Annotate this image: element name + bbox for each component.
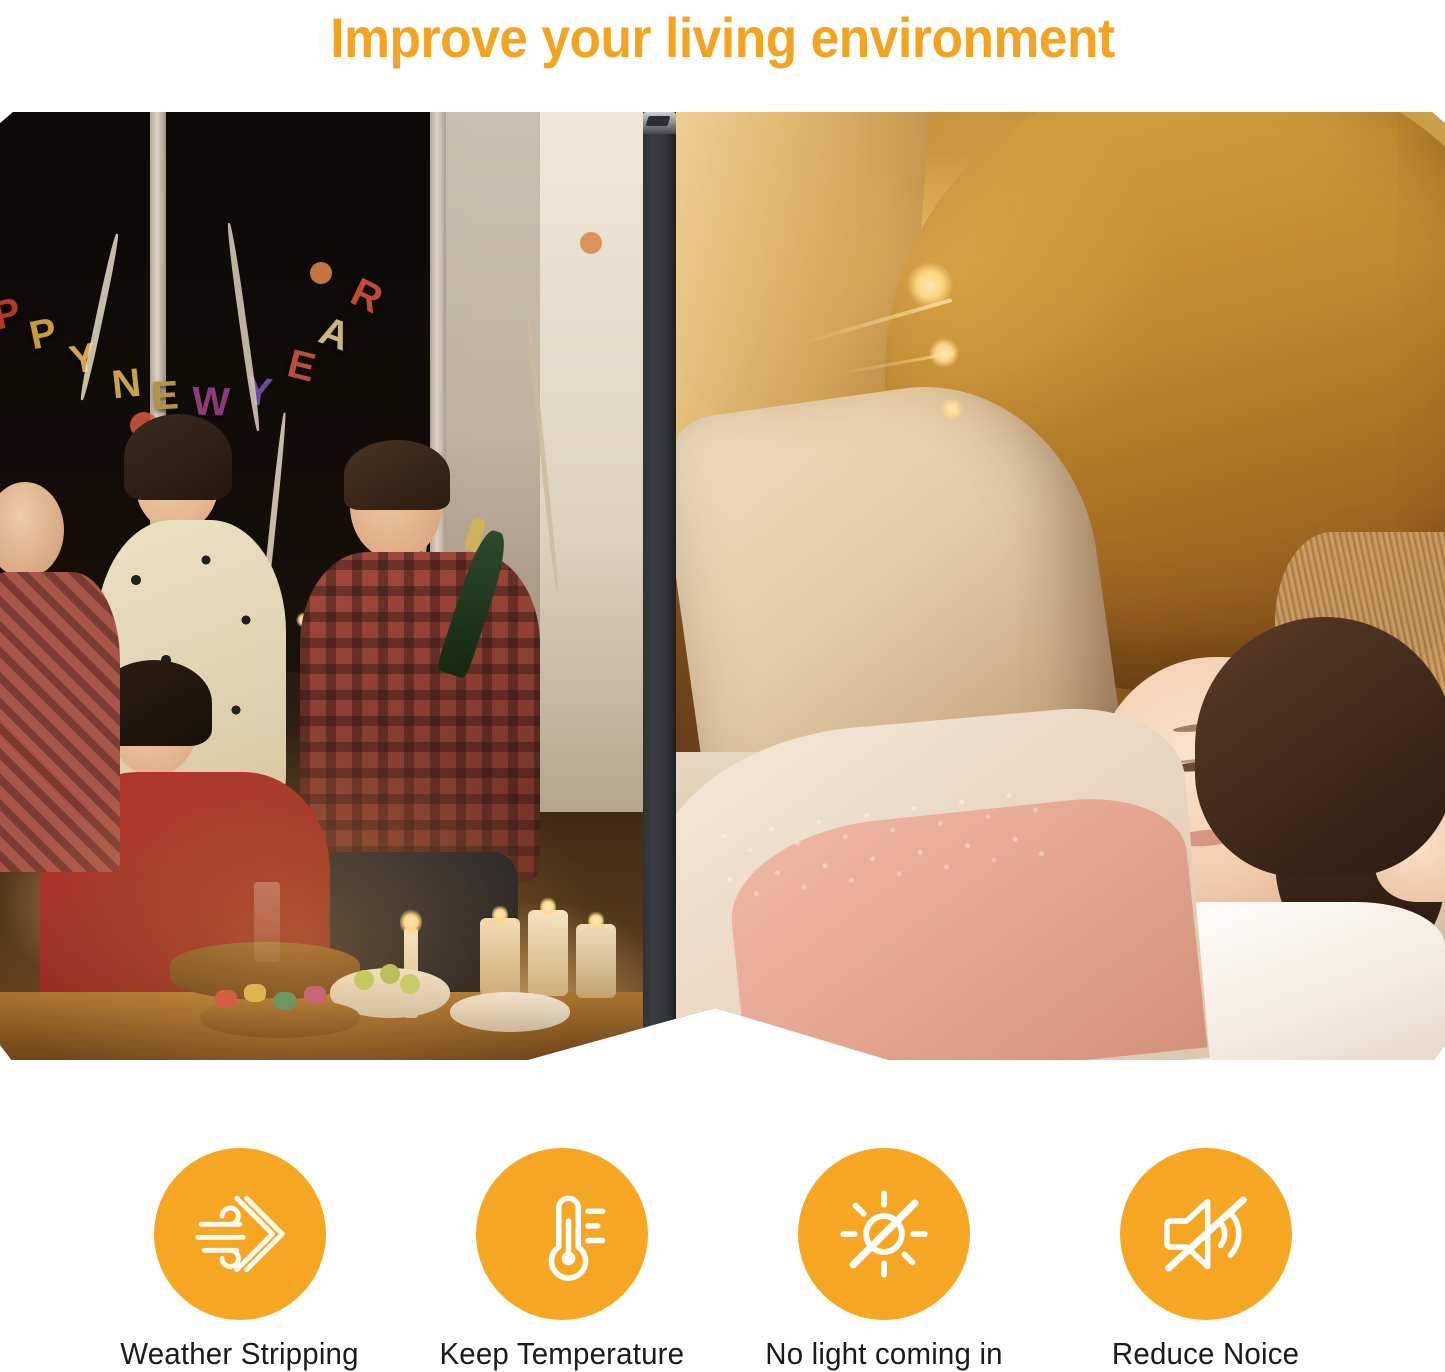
feature-list: Weather Stripping Keep Temperature bbox=[0, 1148, 1445, 1371]
feature-icon-badge bbox=[798, 1148, 970, 1320]
thermometer-icon bbox=[510, 1182, 614, 1286]
feature-item-no-light: No light coming in bbox=[723, 1148, 1045, 1372]
speaker-mute-icon bbox=[1154, 1182, 1258, 1286]
feature-label: Keep Temperature bbox=[439, 1336, 684, 1372]
new-year-party-photo: P P Y N E W Y E A R bbox=[0, 112, 645, 1060]
door-edge-divider bbox=[643, 112, 676, 1060]
feature-item-weather-stripping: Weather Stripping bbox=[79, 1148, 401, 1372]
feature-item-keep-temperature: Keep Temperature bbox=[401, 1148, 723, 1372]
feature-icon-badge bbox=[1120, 1148, 1292, 1320]
feature-item-reduce-noise: Reduce Noice bbox=[1045, 1148, 1367, 1372]
feature-icon-badge bbox=[476, 1148, 648, 1320]
door-edge-cap bbox=[643, 112, 676, 134]
feature-label: Weather Stripping bbox=[120, 1336, 358, 1372]
feature-label: No light coming in bbox=[765, 1336, 1003, 1372]
sleeping-child-photo bbox=[675, 112, 1445, 1060]
sun-slash-icon bbox=[832, 1182, 936, 1286]
hero-image-block: P P Y N E W Y E A R bbox=[0, 112, 1445, 1060]
wind-arrow-icon bbox=[188, 1182, 292, 1286]
feature-icon-badge bbox=[154, 1148, 326, 1320]
feature-label: Reduce Noice bbox=[1112, 1336, 1299, 1372]
page-title: Improve your living environment bbox=[58, 0, 1387, 70]
